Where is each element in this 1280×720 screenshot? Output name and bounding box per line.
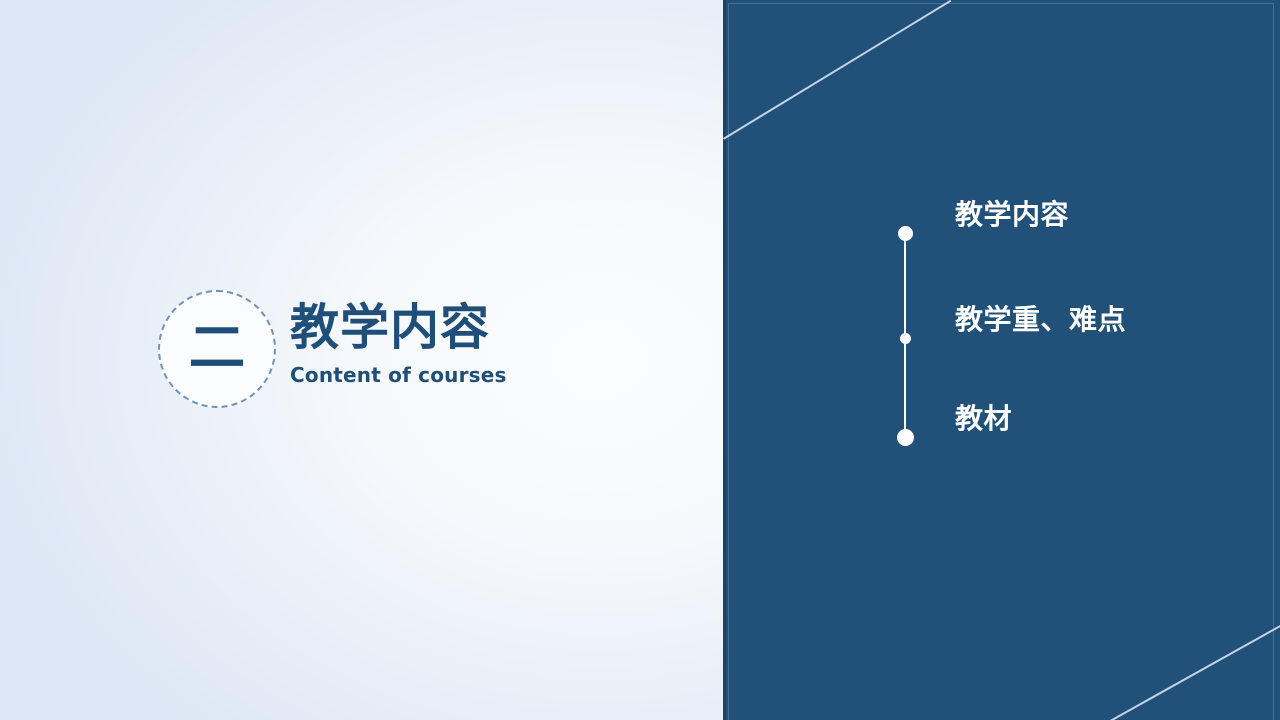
title-group: 教学内容 Content of courses [290,302,507,387]
page-title: 教学内容 [290,302,507,355]
dashed-circle-icon: 二 [158,290,276,408]
section-number-glyph: 二 [189,320,246,374]
agenda-item-label: 教学重、难点 [955,298,1126,338]
agenda-item-label: 教材 [955,397,1012,437]
page-subtitle: Content of courses [290,363,507,387]
bullet-dot-icon [900,333,911,344]
section-heading-block: 二 教学内容 Content of courses [158,290,678,420]
agenda-item-label: 教学内容 [955,193,1069,233]
panel-left-edge [723,0,726,720]
agenda-panel: 教学内容 教学重、难点 教材 [723,0,1280,720]
bullet-dot-icon [898,226,913,241]
bullet-dot-icon [897,429,914,446]
agenda-list: 教学内容 教学重、难点 教材 [898,0,1278,720]
presentation-slide: 二 教学内容 Content of courses 教学内容 教学重、难点 [0,0,1280,720]
